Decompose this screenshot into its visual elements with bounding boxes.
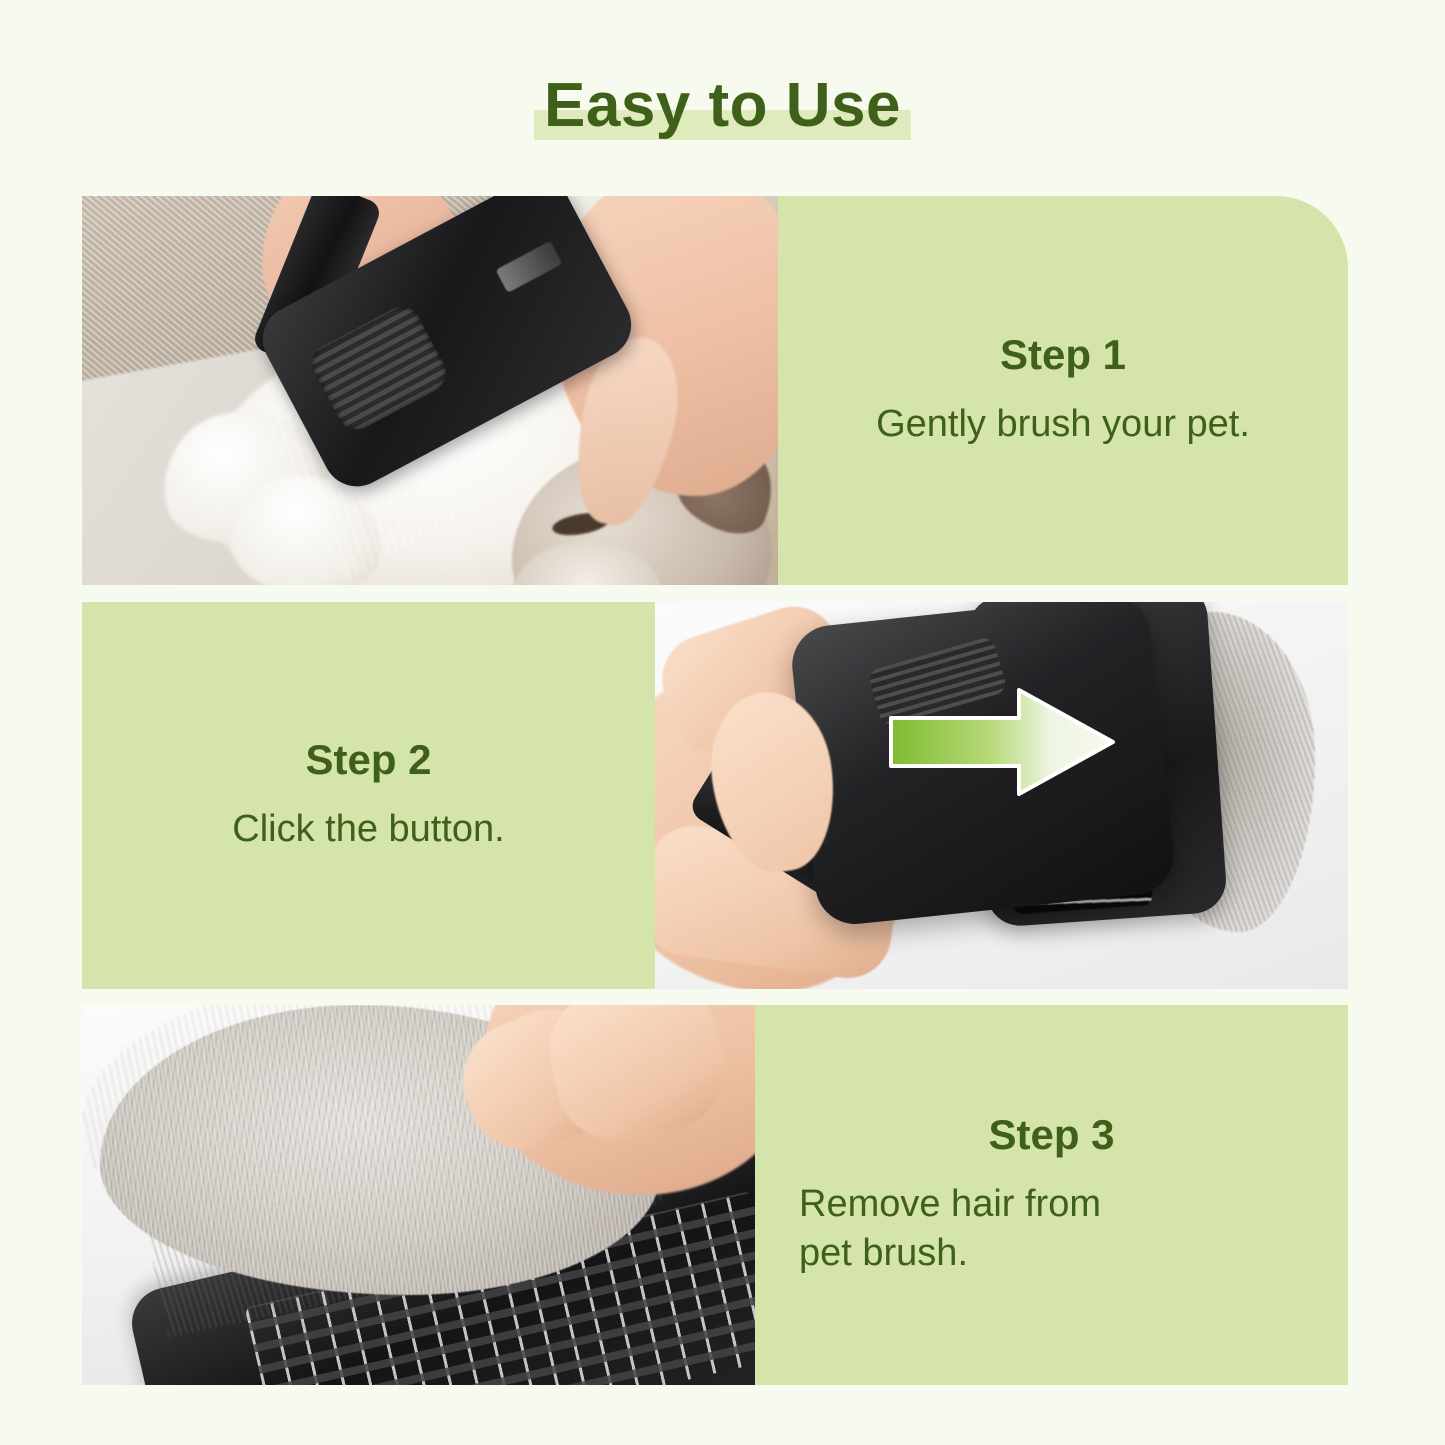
- step-row-2: Step 2 Click the button.: [82, 602, 1348, 989]
- step-1-photo: [82, 196, 778, 585]
- step-2-panel: Step 2 Click the button.: [82, 602, 655, 989]
- step-3-panel: Step 3 Remove hair from pet brush.: [755, 1005, 1348, 1385]
- brand-logo-icon: [496, 241, 563, 293]
- step-1-panel: Step 1 Gently brush your pet.: [778, 196, 1348, 585]
- page-header: Easy to Use: [0, 66, 1445, 158]
- step-2-title: Step 2: [305, 737, 431, 783]
- step-1-description: Gently brush your pet.: [876, 400, 1250, 449]
- step-2-photo: [655, 602, 1348, 989]
- step-3-description: Remove hair from pet brush.: [799, 1180, 1159, 1277]
- page-title-container: Easy to Use: [534, 66, 911, 146]
- step-row-3: Step 3 Remove hair from pet brush.: [82, 1005, 1348, 1385]
- step-row-1: Step 1 Gently brush your pet.: [82, 196, 1348, 585]
- step-2-description: Click the button.: [232, 805, 504, 854]
- slide-right-arrow-icon: [887, 686, 1117, 798]
- page-title: Easy to Use: [544, 66, 901, 146]
- brush-button: [305, 300, 452, 437]
- step-3-photo: [82, 1005, 755, 1385]
- step-1-title: Step 1: [1000, 332, 1126, 378]
- step-3-title: Step 3: [988, 1112, 1114, 1158]
